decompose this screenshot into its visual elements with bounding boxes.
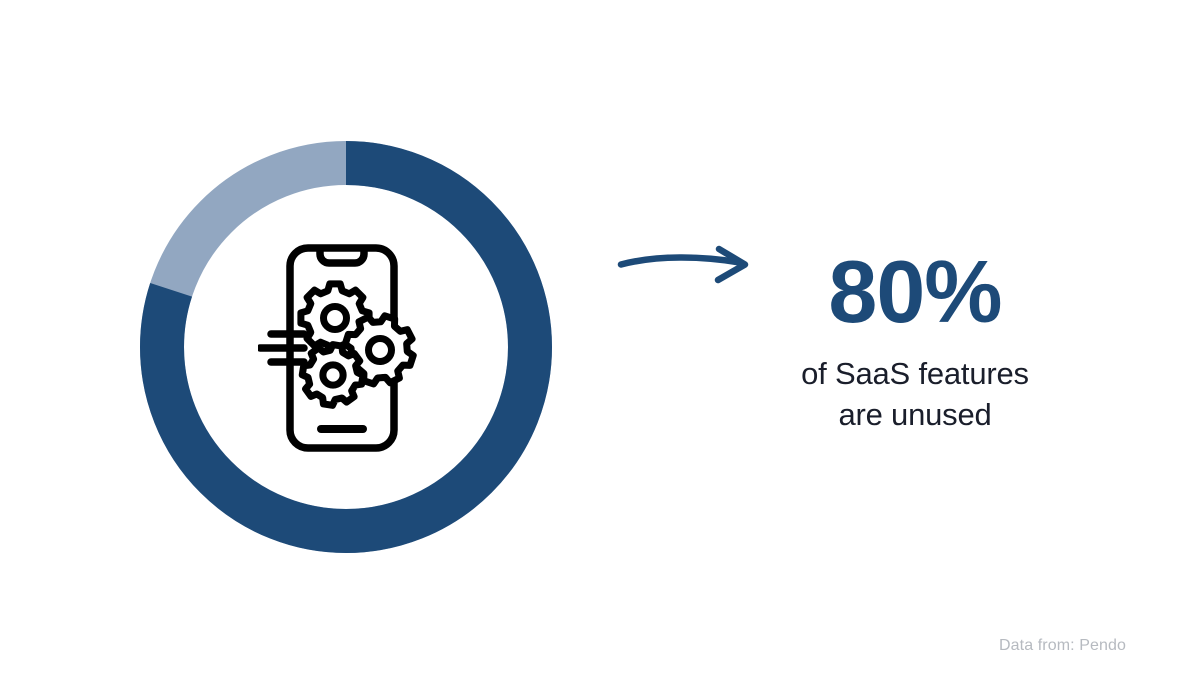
arrow-head-icon	[718, 249, 745, 280]
smartphone-gears-icon-svg	[258, 238, 442, 458]
stat-caption-line-1: of SaaS features	[760, 354, 1070, 395]
arrow-shaft-icon	[621, 257, 740, 264]
stat-block: 80% of SaaS features are unused	[760, 248, 1070, 436]
infographic-canvas: 80% of SaaS features are unused Data fro…	[0, 0, 1200, 700]
curved-right-arrow-svg	[612, 232, 762, 298]
stat-caption-line-2: are unused	[760, 395, 1070, 436]
source-note: Data from: Pendo	[999, 637, 1126, 655]
curved-right-arrow-icon	[612, 232, 762, 298]
stat-caption: of SaaS features are unused	[760, 354, 1070, 436]
smartphone-gears-icon	[258, 238, 442, 458]
stat-value: 80%	[760, 248, 1070, 336]
